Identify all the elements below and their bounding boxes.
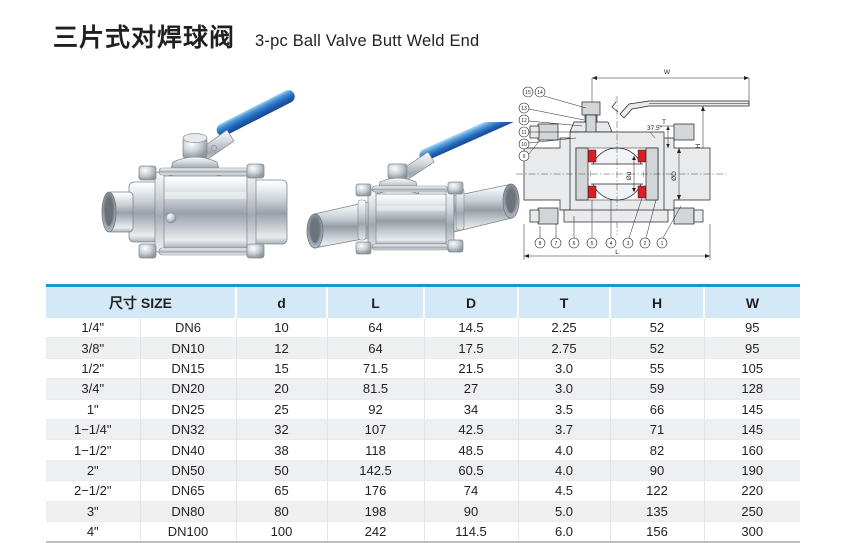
table-row: 2"DN5050142.560.54.090190 <box>46 460 800 480</box>
product-photo-group <box>60 62 510 277</box>
svg-text:4: 4 <box>610 241 613 247</box>
cell-H: 122 <box>610 481 704 501</box>
cell-L: 71.5 <box>327 358 424 378</box>
cell-T: 3.5 <box>518 399 610 419</box>
cell-W: 105 <box>704 358 800 378</box>
cell-D: 42.5 <box>424 419 518 439</box>
cell-H: 90 <box>610 460 704 480</box>
cell-D: 114.5 <box>424 521 518 542</box>
cell-T: 3.0 <box>518 379 610 399</box>
cell-H: 55 <box>610 358 704 378</box>
svg-text:15: 15 <box>525 90 531 96</box>
cell-d: 100 <box>236 521 327 542</box>
svg-text:9: 9 <box>523 154 526 160</box>
cell-size_in: 1/4" <box>46 318 140 338</box>
cell-size_in: 1−1/2" <box>46 440 140 460</box>
cell-size_in: 4" <box>46 521 140 542</box>
page-title: 三片式对焊球阀 3-pc Ball Valve Butt Weld End <box>53 18 479 54</box>
cell-d: 10 <box>236 318 327 338</box>
dim-label-smalld: Ød <box>626 171 633 180</box>
cell-W: 95 <box>704 318 800 338</box>
cell-D: 48.5 <box>424 440 518 460</box>
table-row: 3/8"DN10126417.52.755295 <box>46 338 800 358</box>
svg-text:11: 11 <box>521 130 526 136</box>
cell-T: 3.7 <box>518 419 610 439</box>
cell-L: 242 <box>327 521 424 542</box>
svg-text:5: 5 <box>591 241 594 247</box>
cell-H: 71 <box>610 419 704 439</box>
cell-size_dn: DN15 <box>140 358 236 378</box>
cell-D: 74 <box>424 481 518 501</box>
cell-T: 4.0 <box>518 440 610 460</box>
cell-W: 145 <box>704 399 800 419</box>
cell-size_dn: DN65 <box>140 481 236 501</box>
cell-W: 300 <box>704 521 800 542</box>
cell-H: 66 <box>610 399 704 419</box>
table-row: 3"DN8080198905.0135250 <box>46 501 800 521</box>
cell-D: 17.5 <box>424 338 518 358</box>
valve-cross-section-drawing: .ln{stroke:#231f20;stroke-width:.7;fill:… <box>516 60 816 275</box>
svg-text:8: 8 <box>539 241 542 247</box>
dim-label-angle: 37.5° <box>647 124 663 132</box>
cell-W: 160 <box>704 440 800 460</box>
cell-T: 2.25 <box>518 318 610 338</box>
cell-d: 15 <box>236 358 327 378</box>
svg-text:6: 6 <box>573 241 576 247</box>
cell-d: 38 <box>236 440 327 460</box>
table-row: 1/4"DN6106414.52.255295 <box>46 318 800 338</box>
svg-text:2: 2 <box>644 241 647 247</box>
cell-D: 21.5 <box>424 358 518 378</box>
cell-size_in: 3/4" <box>46 379 140 399</box>
ball-valve-small-photo <box>300 122 525 272</box>
cell-d: 50 <box>236 460 327 480</box>
table-row: 1"DN252592343.566145 <box>46 399 800 419</box>
cell-d: 20 <box>236 379 327 399</box>
svg-text:10: 10 <box>521 142 527 148</box>
cell-H: 59 <box>610 379 704 399</box>
cell-D: 27 <box>424 379 518 399</box>
cell-d: 80 <box>236 501 327 521</box>
cell-size_in: 1" <box>46 399 140 419</box>
cell-size_dn: DN50 <box>140 460 236 480</box>
cell-W: 250 <box>704 501 800 521</box>
cell-L: 81.5 <box>327 379 424 399</box>
cell-d: 12 <box>236 338 327 358</box>
cell-D: 34 <box>424 399 518 419</box>
col-header-W: W <box>704 286 800 319</box>
col-header-L: L <box>327 286 424 319</box>
cell-d: 25 <box>236 399 327 419</box>
cell-d: 32 <box>236 419 327 439</box>
dimension-table: 尺寸 SIZE d L D T H W 1/4"DN6106414.52.255… <box>46 284 800 543</box>
cell-d: 65 <box>236 481 327 501</box>
svg-text:13: 13 <box>521 106 527 112</box>
svg-text:12: 12 <box>521 118 527 124</box>
cell-D: 90 <box>424 501 518 521</box>
dim-label-h: H <box>695 143 702 148</box>
cell-H: 135 <box>610 501 704 521</box>
cell-T: 4.5 <box>518 481 610 501</box>
table-row: 1−1/2"DN403811848.54.082160 <box>46 440 800 460</box>
cell-size_dn: DN6 <box>140 318 236 338</box>
page-title-english: 3-pc Ball Valve Butt Weld End <box>255 32 479 51</box>
cell-L: 92 <box>327 399 424 419</box>
cell-L: 176 <box>327 481 424 501</box>
cell-H: 156 <box>610 521 704 542</box>
cell-size_dn: DN40 <box>140 440 236 460</box>
cell-size_in: 3" <box>46 501 140 521</box>
col-header-size: 尺寸 SIZE <box>46 286 236 319</box>
dim-label-bigd: ØD <box>671 171 678 181</box>
cell-W: 220 <box>704 481 800 501</box>
cell-T: 6.0 <box>518 521 610 542</box>
cell-size_dn: DN25 <box>140 399 236 419</box>
cell-size_dn: DN80 <box>140 501 236 521</box>
cell-L: 107 <box>327 419 424 439</box>
page-title-chinese: 三片式对焊球阀 <box>53 18 235 54</box>
table-row: 4"DN100100242114.56.0156300 <box>46 521 800 542</box>
table-row: 2−1/2"DN6565176744.5122220 <box>46 481 800 501</box>
dim-label-w: W <box>664 69 671 76</box>
cell-D: 60.5 <box>424 460 518 480</box>
table-body: 1/4"DN6106414.52.2552953/8"DN10126417.52… <box>46 318 800 542</box>
cell-size_in: 1/2" <box>46 358 140 378</box>
cell-W: 145 <box>704 419 800 439</box>
cell-size_in: 1−1/4" <box>46 419 140 439</box>
cell-H: 52 <box>610 338 704 358</box>
svg-text:14: 14 <box>537 90 543 96</box>
cell-L: 64 <box>327 318 424 338</box>
cell-H: 52 <box>610 318 704 338</box>
svg-text:1: 1 <box>661 241 664 247</box>
cell-T: 3.0 <box>518 358 610 378</box>
cell-L: 142.5 <box>327 460 424 480</box>
cell-size_in: 3/8" <box>46 338 140 358</box>
table-row: 1/2"DN151571.521.53.055105 <box>46 358 800 378</box>
table-header-row: 尺寸 SIZE d L D T H W <box>46 286 800 319</box>
col-header-d: d <box>236 286 327 319</box>
cell-W: 190 <box>704 460 800 480</box>
cell-size_in: 2−1/2" <box>46 481 140 501</box>
cell-T: 5.0 <box>518 501 610 521</box>
ball-valve-large-photo <box>95 72 325 267</box>
table-row: 1−1/4"DN323210742.53.771145 <box>46 419 800 439</box>
cell-size_in: 2" <box>46 460 140 480</box>
cell-T: 2.75 <box>518 338 610 358</box>
cell-size_dn: DN32 <box>140 419 236 439</box>
cell-size_dn: DN10 <box>140 338 236 358</box>
cell-L: 64 <box>327 338 424 358</box>
cell-size_dn: DN100 <box>140 521 236 542</box>
svg-text:7: 7 <box>555 241 558 247</box>
svg-text:3: 3 <box>627 241 630 247</box>
cell-T: 4.0 <box>518 460 610 480</box>
col-header-T: T <box>518 286 610 319</box>
dim-label-t: T <box>662 119 666 126</box>
col-header-D: D <box>424 286 518 319</box>
table-row: 3/4"DN202081.5273.059128 <box>46 379 800 399</box>
cell-W: 128 <box>704 379 800 399</box>
cell-L: 198 <box>327 501 424 521</box>
cell-W: 95 <box>704 338 800 358</box>
cell-size_dn: DN20 <box>140 379 236 399</box>
cell-D: 14.5 <box>424 318 518 338</box>
dim-label-l: L <box>615 249 619 256</box>
cell-L: 118 <box>327 440 424 460</box>
spec-sheet-page: 三片式对焊球阀 3-pc Ball Valve Butt Weld End <box>0 0 851 537</box>
col-header-H: H <box>610 286 704 319</box>
cell-H: 82 <box>610 440 704 460</box>
